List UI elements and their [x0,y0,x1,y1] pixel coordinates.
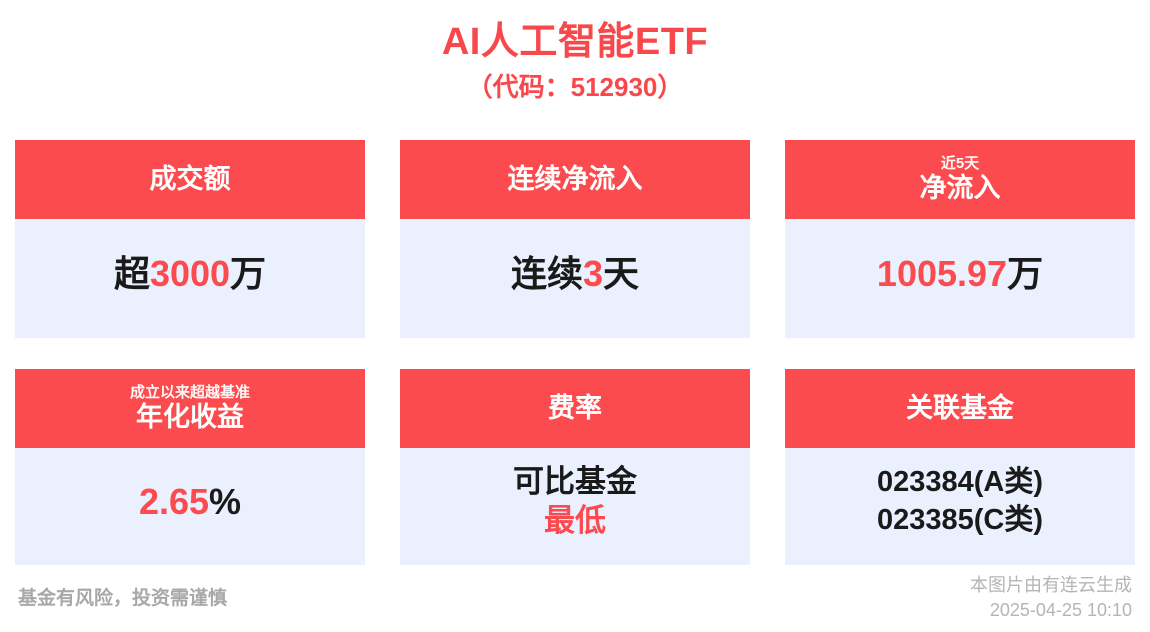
value-part-plain: 023385(C类) [877,504,1043,536]
card-header-related-funds: 关联基金 [785,369,1135,448]
page-footer: 基金有风险，投资需谨慎 本图片由有连云生成 2025-04-25 10:10 [0,566,1150,632]
value-part-plain: % [209,481,241,522]
card-body-consecutive-net-inflow: 连续3天 [400,219,750,338]
metric-card-turnover: 成交额超3000万 [15,140,365,338]
card-header-fee-rate: 费率 [400,369,750,448]
card-title-annualized-excess-return: 年化收益 [136,401,244,433]
metric-card-annualized-excess-return: 成立以来超越基准年化收益2.65% [15,369,365,565]
value-part-plain: 万 [230,253,266,294]
value-part-highlight: 3000 [150,253,230,294]
card-value-annualized-excess-return: 2.65% [139,479,241,524]
card-eyebrow-annualized-excess-return: 成立以来超越基准 [130,384,250,401]
metric-card-consecutive-net-inflow: 连续净流入连续3天 [400,140,750,338]
card-value-related-funds-line-1: 023384(A类) [877,464,1043,502]
card-body-turnover: 超3000万 [15,219,365,338]
card-title-net-inflow-5d: 净流入 [920,172,1001,204]
card-value-consecutive-net-inflow: 连续3天 [511,251,639,296]
page-subtitle-code: （代码：512930） [0,64,1150,102]
card-value-fee-rate-line-2: 最低 [544,502,606,541]
value-part-highlight: 1005.97 [877,253,1007,294]
page-title: AI人工智能ETF [0,0,1150,64]
value-part-highlight: 最低 [544,503,606,538]
metric-card-net-inflow-5d: 近5天净流入1005.97万 [785,140,1135,338]
card-value-fee-rate-line-1: 可比基金 [513,463,637,502]
card-header-annualized-excess-return: 成立以来超越基准年化收益 [15,369,365,448]
card-eyebrow-net-inflow-5d: 近5天 [941,155,979,172]
card-body-annualized-excess-return: 2.65% [15,448,365,565]
infographic-page: AI人工智能ETF （代码：512930） 成交额超3000万连续净流入连续3天… [0,0,1150,632]
metric-card-grid: 成交额超3000万连续净流入连续3天近5天净流入1005.97万成立以来超越基准… [15,140,1135,565]
generator-info: 本图片由有连云生成 2025-04-25 10:10 [970,573,1132,622]
generator-source: 本图片由有连云生成 [970,573,1132,597]
value-part-plain: 连续 [511,253,583,294]
card-header-turnover: 成交额 [15,140,365,219]
value-part-plain: 万 [1007,253,1043,294]
metric-card-related-funds: 关联基金023384(A类)023385(C类) [785,369,1135,565]
value-part-plain: 超 [114,253,150,294]
card-title-fee-rate: 费率 [548,392,602,424]
value-part-highlight: 2.65 [139,481,209,522]
card-value-turnover: 超3000万 [114,251,266,296]
card-title-turnover: 成交额 [150,163,231,195]
card-title-related-funds: 关联基金 [906,392,1014,424]
risk-disclaimer: 基金有风险，投资需谨慎 [18,583,227,610]
card-title-consecutive-net-inflow: 连续净流入 [508,163,643,195]
card-value-net-inflow-5d: 1005.97万 [877,251,1043,296]
card-body-net-inflow-5d: 1005.97万 [785,219,1135,338]
page-header: AI人工智能ETF （代码：512930） [0,0,1150,101]
card-value-related-funds-line-2: 023385(C类) [877,502,1043,540]
card-body-related-funds: 023384(A类)023385(C类) [785,448,1135,565]
card-header-consecutive-net-inflow: 连续净流入 [400,140,750,219]
value-part-plain: 可比基金 [513,464,637,499]
metric-card-fee-rate: 费率可比基金最低 [400,369,750,565]
card-header-net-inflow-5d: 近5天净流入 [785,140,1135,219]
generator-timestamp: 2025-04-25 10:10 [970,598,1132,622]
value-part-plain: 023384(A类) [877,466,1043,498]
value-part-highlight: 3 [583,253,603,294]
value-part-plain: 天 [603,253,639,294]
card-body-fee-rate: 可比基金最低 [400,448,750,565]
